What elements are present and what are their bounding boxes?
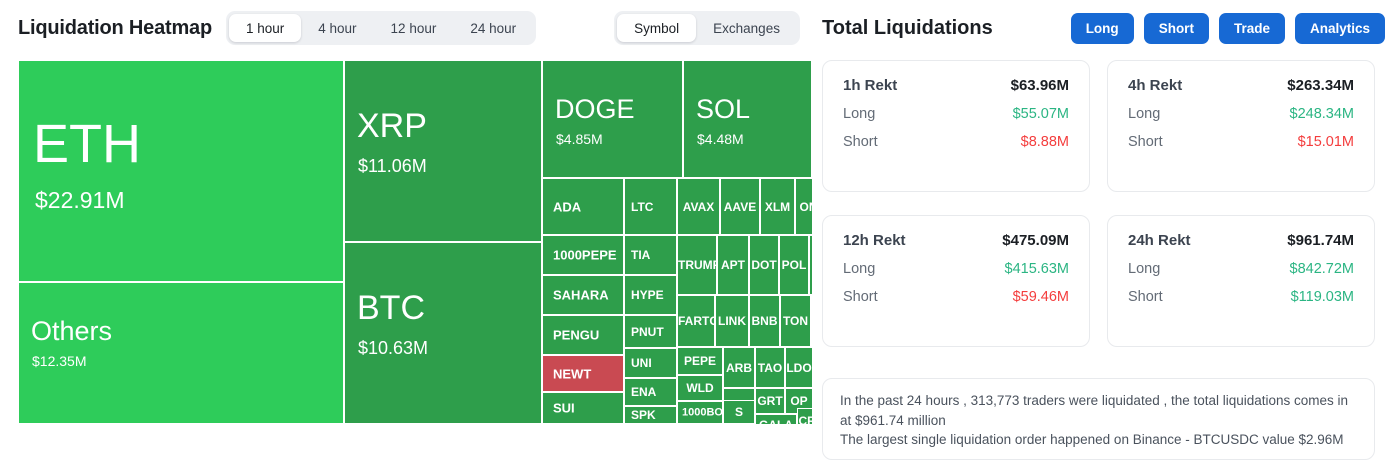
tile-symbol: DOT (750, 259, 778, 271)
stat-row: Long$55.07M (843, 106, 1069, 122)
treemap-tile-pnut[interactable]: PNUT (624, 315, 677, 348)
long-value: $415.63M (1005, 261, 1070, 277)
treemap-tile-arb[interactable]: ARB (723, 347, 755, 388)
treemap-tile-apt[interactable]: APT (717, 235, 749, 295)
treemap-tile-ondo[interactable]: ONDO (795, 178, 812, 235)
treemap-tile-sui[interactable]: SUI (542, 392, 624, 424)
treemap-tile-aave[interactable]: AAVE (720, 178, 760, 235)
tile-symbol: LINK (716, 315, 748, 327)
stat-total-row: 12h Rekt$475.09M (843, 232, 1069, 249)
short-value: $8.88M (1021, 134, 1069, 150)
long-value: $55.07M (1013, 106, 1069, 122)
view-mode-selector[interactable]: SymbolExchanges (614, 11, 800, 45)
tile-symbol: CRV (798, 415, 812, 424)
stat-row: Short$119.03M (1128, 289, 1354, 305)
timeframe-selector[interactable]: 1 hour4 hour12 hour24 hour (226, 11, 536, 45)
treemap-tile-pol[interactable]: POL (779, 235, 809, 295)
tile-symbol: GALA (756, 419, 796, 424)
treemap-tile-s[interactable]: S (723, 400, 755, 424)
tile-symbol: HYPE (631, 289, 664, 301)
stat-card-1h-rekt: 1h Rekt$63.96MLong$55.07MShort$8.88M (822, 60, 1090, 192)
short-value: $15.01M (1298, 134, 1354, 150)
stat-row: Short$59.46M (843, 289, 1069, 305)
tile-symbol: BTC (357, 291, 425, 325)
tile-value: $4.85M (556, 132, 603, 146)
treemap-tile-ada[interactable]: ADA (542, 178, 624, 235)
timeframe-1-hour[interactable]: 1 hour (229, 14, 301, 42)
tile-symbol: GRT (756, 395, 784, 407)
treemap-tile-sol[interactable]: SOL$4.48M (683, 60, 812, 178)
stat-total-row: 1h Rekt$63.96M (843, 77, 1069, 94)
tile-symbol: SPK (631, 409, 656, 421)
trade-button[interactable]: Trade (1219, 13, 1285, 44)
treemap-tile-crv[interactable]: CRV (797, 408, 812, 424)
tile-symbol: SOL (696, 96, 750, 123)
treemap-tile-ton[interactable]: TON (780, 295, 811, 347)
tile-symbol: TON (781, 315, 810, 327)
long-value: $842.72M (1290, 261, 1355, 277)
stat-card-total: $263.34M (1287, 77, 1354, 94)
treemap-tile-avax[interactable]: AVAX (677, 178, 720, 235)
treemap-tile-tao[interactable]: TAO (755, 347, 785, 388)
short-label: Short (1128, 289, 1163, 305)
treemap-tile-link[interactable]: LINK (715, 295, 749, 347)
summary-card: In the past 24 hours , 313,773 traders w… (822, 378, 1375, 460)
view-mode-symbol[interactable]: Symbol (617, 14, 696, 42)
tile-symbol: AAVE (721, 201, 759, 213)
stat-card-total: $961.74M (1287, 232, 1354, 249)
tile-symbol: TAO (756, 362, 784, 374)
long-label: Long (843, 261, 875, 277)
treemap-tile-bnb[interactable]: BNB (749, 295, 780, 347)
heatmap-header: Liquidation Heatmap 1 hour4 hour12 hour2… (0, 0, 812, 56)
treemap-tile-uni[interactable]: UNI (624, 348, 677, 378)
treemap-tile-1000bonk[interactable]: 1000BONK (677, 401, 723, 424)
treemap-tile-ena[interactable]: ENA (624, 378, 677, 406)
treemap-tile-doge[interactable]: DOGE$4.85M (542, 60, 683, 178)
treemap-tile-1000pepe[interactable]: 1000PEPE (542, 235, 624, 275)
treemap-tile-pengu[interactable]: PENGU (542, 315, 624, 355)
tile-symbol: DOGE (555, 96, 635, 123)
treemap-tile-eth[interactable]: ETH$22.91M (18, 60, 344, 282)
tile-value: $22.91M (35, 189, 125, 212)
stat-card-title: 4h Rekt (1128, 77, 1182, 94)
tile-symbol: ADA (553, 200, 581, 213)
tile-symbol: PENGU (553, 329, 599, 342)
stat-row: Long$415.63M (843, 261, 1069, 277)
tile-symbol: UNI (631, 357, 652, 369)
treemap-tile-ldo[interactable]: LDO (785, 347, 812, 388)
tile-value: $11.06M (358, 157, 427, 175)
tile-symbol: APT (718, 259, 748, 271)
long-label: Long (1128, 261, 1160, 277)
treemap-tile-pepe[interactable]: PEPE (677, 347, 723, 375)
treemap-tile-hype[interactable]: HYPE (624, 275, 677, 315)
stat-card-title: 24h Rekt (1128, 232, 1191, 249)
short-label: Short (843, 134, 878, 150)
totals-title: Total Liquidations (822, 17, 993, 40)
tile-symbol: 1000BONK (682, 407, 723, 418)
stat-row: Long$842.72M (1128, 261, 1354, 277)
long-label: Long (1128, 106, 1160, 122)
treemap-tile-spk[interactable]: SPK (624, 406, 677, 424)
stat-row: Long$248.34M (1128, 106, 1354, 122)
stat-card-title: 12h Rekt (843, 232, 906, 249)
tile-symbol: Others (31, 318, 112, 345)
treemap-tile-gala[interactable]: GALA (755, 414, 797, 424)
treemap-tile-btc[interactable]: BTC$10.63M (344, 242, 542, 424)
summary-line-2: The largest single liquidation order hap… (840, 430, 1357, 450)
treemap-tile-sahara[interactable]: SAHARA (542, 275, 624, 315)
long-label: Long (843, 106, 875, 122)
stat-row: Short$15.01M (1128, 134, 1354, 150)
stat-card-12h-rekt: 12h Rekt$475.09MLong$415.63MShort$59.46M (822, 215, 1090, 347)
tile-symbol: FARTCOIN (678, 315, 714, 327)
tile-value: $4.48M (697, 132, 744, 146)
stat-card-4h-rekt: 4h Rekt$263.34MLong$248.34MShort$15.01M (1107, 60, 1375, 192)
treemap-tile-grt[interactable]: GRT (755, 388, 785, 414)
stat-card-total: $63.96M (1011, 77, 1069, 94)
treemap-tile-xrp[interactable]: XRP$11.06M (344, 60, 542, 242)
treemap-tile-ltc[interactable]: LTC (624, 178, 677, 235)
treemap-tile-dot[interactable]: DOT (749, 235, 779, 295)
tile-symbol: LDO (786, 362, 812, 374)
tile-symbol: 1000PEPE (553, 249, 617, 262)
tile-symbol: SUI (553, 402, 575, 415)
short-button[interactable]: Short (1144, 13, 1209, 44)
short-value: $59.46M (1013, 289, 1069, 305)
treemap-tile-trump[interactable]: TRUMP (677, 235, 717, 295)
long-button[interactable]: Long (1071, 13, 1134, 44)
timeframe-4-hour[interactable]: 4 hour (301, 14, 373, 42)
action-button-group: LongShortTradeAnalytics (1071, 13, 1385, 44)
tile-symbol: POL (780, 259, 808, 271)
tile-value: $12.35M (32, 354, 86, 368)
totals-header: Total Liquidations LongShortTradeAnalyti… (822, 0, 1385, 56)
tile-symbol: TRUMP (678, 259, 716, 271)
tile-symbol: NEWT (553, 367, 591, 380)
liquidation-treemap[interactable]: ETH$22.91MOthers$12.35MXRP$11.06MBTC$10.… (18, 60, 812, 424)
tile-symbol: PEPE (678, 355, 722, 367)
short-label: Short (1128, 134, 1163, 150)
tile-symbol: SAHARA (553, 289, 609, 302)
tile-symbol: ONDO (796, 201, 812, 213)
treemap-tile-newt[interactable]: NEWT (542, 355, 624, 392)
tile-symbol: S (724, 406, 754, 418)
timeframe-12-hour[interactable]: 12 hour (374, 14, 454, 42)
stat-card-24h-rekt: 24h Rekt$961.74MLong$842.72MShort$119.03… (1107, 215, 1375, 347)
stat-card-title: 1h Rekt (843, 77, 897, 94)
tile-symbol: AVAX (678, 201, 719, 213)
stat-row: Short$8.88M (843, 134, 1069, 150)
treemap-tile-tia[interactable]: TIA (624, 235, 677, 275)
liquidation-dashboard: Liquidation Heatmap 1 hour4 hour12 hour2… (0, 0, 1385, 468)
timeframe-24-hour[interactable]: 24 hour (453, 14, 533, 42)
tile-symbol: BNB (750, 315, 779, 327)
tile-symbol: TIA (631, 249, 650, 261)
tile-symbol: XRP (357, 109, 427, 143)
heatmap-panel: Liquidation Heatmap 1 hour4 hour12 hour2… (0, 0, 812, 468)
tile-symbol: XLM (761, 201, 794, 213)
treemap-tile-others[interactable]: Others$12.35M (18, 282, 344, 424)
tile-symbol: ETH (33, 117, 141, 171)
tile-value: $10.63M (358, 339, 428, 357)
treemap-tile-xlm[interactable]: XLM (760, 178, 795, 235)
stat-total-row: 24h Rekt$961.74M (1128, 232, 1354, 249)
tile-symbol: LTC (631, 201, 653, 213)
stat-card-total: $475.09M (1002, 232, 1069, 249)
tile-symbol: ARB (724, 362, 754, 374)
tile-symbol: PNUT (631, 326, 664, 338)
summary-line-1: In the past 24 hours , 313,773 traders w… (840, 391, 1357, 430)
page-title: Liquidation Heatmap (18, 17, 212, 40)
treemap-tile-fartcoin[interactable]: FARTCOIN (677, 295, 715, 347)
tile-symbol: OP (786, 395, 812, 407)
analytics-button[interactable]: Analytics (1295, 13, 1385, 44)
short-label: Short (843, 289, 878, 305)
treemap-tile-wld[interactable]: WLD (677, 375, 723, 401)
short-value: $119.03M (1291, 289, 1354, 305)
view-mode-exchanges[interactable]: Exchanges (696, 14, 797, 42)
stat-total-row: 4h Rekt$263.34M (1128, 77, 1354, 94)
tile-symbol: ENA (631, 386, 656, 398)
long-value: $248.34M (1290, 106, 1355, 122)
tile-symbol: WLD (678, 382, 722, 394)
